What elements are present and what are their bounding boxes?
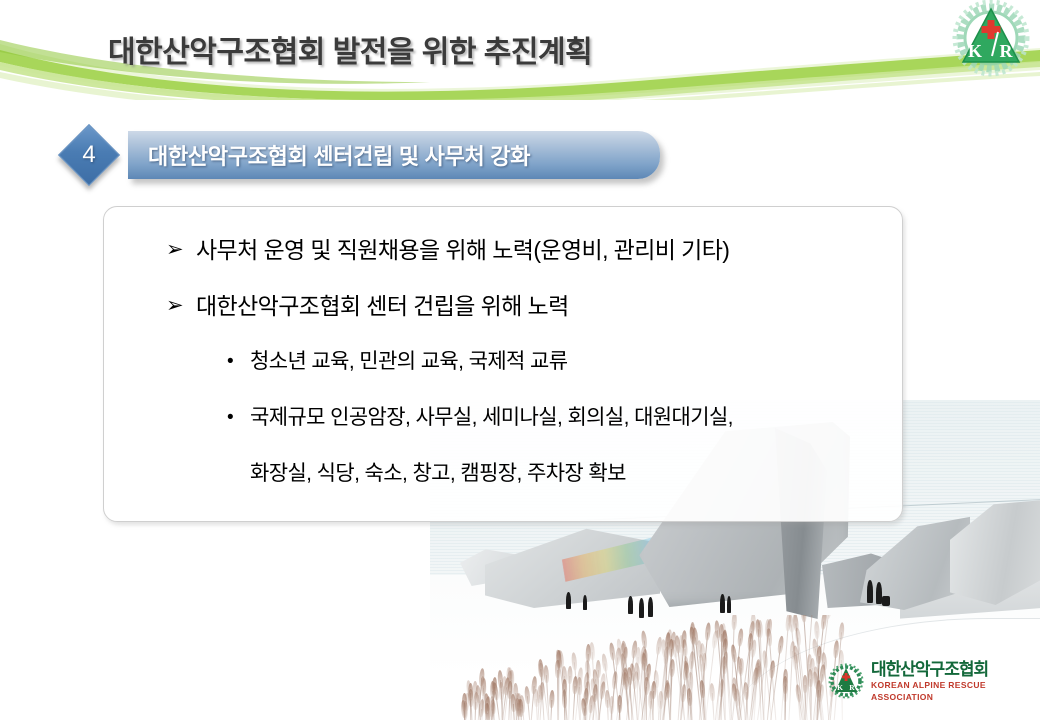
reed-stalk: [568, 676, 570, 720]
reed-stalk: [550, 700, 552, 720]
slide-header: 대한산악구조협회 발전을 위한 추진계획 K R: [0, 0, 1040, 100]
arrow-bullet-icon: ➢: [166, 235, 196, 265]
section-header-row: 대한산악구조협회 센터건립 및 사무처 강화 4: [0, 118, 700, 190]
bullet-text: 대한산악구조협회 센터 건립을 위해 노력: [196, 291, 569, 321]
reed-stalk: [492, 691, 494, 720]
sub-bullet-item: • 국제규모 인공암장, 사무실, 세미나실, 회의실, 대원대기실,: [224, 403, 733, 433]
svg-text:K: K: [968, 41, 982, 61]
reed-stalk: [646, 687, 647, 720]
svg-text:R: R: [849, 683, 855, 692]
footer-text-block: 대한산악구조협회 KOREAN ALPINE RESCUE ASSOCIATIO…: [871, 660, 1028, 703]
reed-stalk: [650, 701, 651, 720]
pedestrian-silhouette: [727, 596, 731, 613]
reed-stalk: [487, 713, 489, 720]
presentation-slide: 대한산악구조협회 발전을 위한 추진계획 K R 대한산악구조협회 센터건립 및…: [0, 0, 1040, 720]
bullet-item: ➢ 대한산악구조협회 센터 건립을 위해 노력: [166, 291, 569, 321]
footer-branding: K R 대한산악구조협회 KOREAN ALPINE RESCUE ASSOCI…: [828, 658, 1028, 704]
section-number-badge[interactable]: 4: [58, 124, 120, 186]
bullet-text: 사무처 운영 및 직원채용을 위해 노력(운영비, 관리비 기타): [196, 235, 729, 265]
pedestrian-silhouette: [628, 596, 633, 614]
sub-bullet-text: 청소년 교육, 민관의 교육, 국제적 교류: [250, 347, 567, 377]
reed-stalk: [788, 651, 793, 720]
section-title-bar[interactable]: 대한산악구조협회 센터건립 및 사무처 강화: [128, 131, 660, 179]
svg-text:K: K: [837, 683, 843, 692]
dot-bullet-icon: •: [224, 403, 250, 433]
krs-footer-emblem-icon: K R: [828, 663, 864, 699]
pedestrian-silhouette: [648, 597, 653, 617]
section-number-text: 4: [58, 124, 120, 186]
reed-stalk: [670, 649, 672, 720]
reeds-foreground: [440, 615, 860, 720]
footer-org-name-kr: 대한산악구조협회: [871, 660, 1028, 679]
reed-stalk: [522, 705, 525, 720]
pedestrian-silhouette: [720, 594, 725, 613]
svg-text:R: R: [1000, 41, 1014, 61]
krs-emblem-icon: K R: [948, 0, 1034, 80]
pedestrian-silhouette: [882, 596, 890, 606]
reed-stalk: [518, 708, 520, 720]
footer-org-name-en: KOREAN ALPINE RESCUE ASSOCIATION: [871, 679, 1028, 703]
content-panel: ➢ 사무처 운영 및 직원채용을 위해 노력(운영비, 관리비 기타) ➢ 대한…: [103, 206, 903, 522]
sub-bullet-item: • 청소년 교육, 민관의 교육, 국제적 교류: [224, 347, 567, 377]
reed-stalk: [557, 670, 558, 720]
section-title-text: 대한산악구조협회 센터건립 및 사무처 강화: [148, 131, 646, 179]
reed-stalk: [660, 701, 661, 720]
reed-stalk: [470, 693, 471, 720]
pedestrian-silhouette: [566, 592, 571, 609]
bullet-item: ➢ 사무처 운영 및 직원채용을 위해 노력(운영비, 관리비 기타): [166, 235, 729, 265]
page-title: 대한산악구조협회 발전을 위한 추진계획: [108, 27, 592, 71]
pedestrian-silhouette: [583, 595, 587, 610]
dot-bullet-icon: •: [224, 347, 250, 377]
sub-bullet-continuation: 화장실, 식당, 숙소, 창고, 캠핑장, 주차장 확보: [250, 459, 626, 489]
pedestrian-silhouette: [867, 580, 873, 603]
reed-stalk: [465, 711, 466, 720]
sub-bullet-text: 국제규모 인공암장, 사무실, 세미나실, 회의실, 대원대기실,: [250, 403, 733, 433]
arrow-bullet-icon: ➢: [166, 291, 196, 321]
